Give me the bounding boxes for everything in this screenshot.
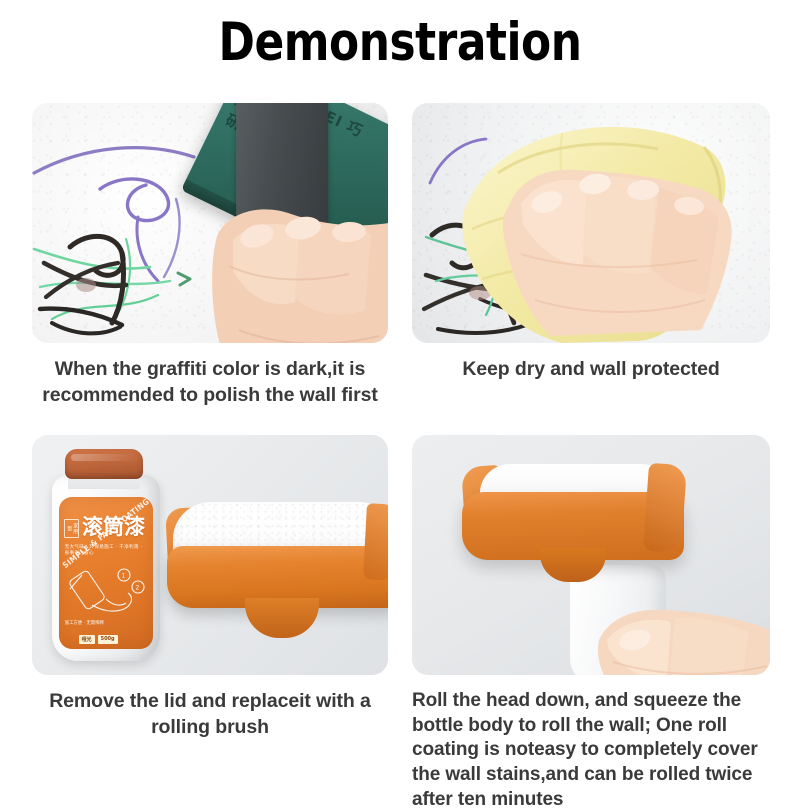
label-tag-finish: 哑光 bbox=[79, 635, 95, 644]
step-3: 家用型 滚筒漆 无大气味 · 环保易施工 · 干净利落 · 省事省力省心 bbox=[32, 435, 388, 741]
step-4-photo bbox=[412, 435, 770, 675]
svg-text:1: 1 bbox=[121, 573, 125, 580]
step-3-caption: Remove the lid and replaceit with a roll… bbox=[32, 689, 388, 741]
paint-bottle: 家用型 滚筒漆 无大气味 · 环保易施工 · 干净利落 · 省事省力省心 bbox=[52, 449, 160, 661]
hand-wiping bbox=[491, 144, 741, 343]
label-tags: 哑光 500g bbox=[79, 635, 118, 644]
label-footer: 施工方便 · 无需稀释 bbox=[65, 621, 147, 628]
hand-holding-block bbox=[199, 170, 388, 343]
hand-squeezing-bottle bbox=[591, 584, 770, 675]
roller-stem bbox=[245, 598, 319, 638]
step-4-caption: Roll the head down, and squeeze the bott… bbox=[412, 689, 770, 812]
svg-text:2: 2 bbox=[135, 585, 139, 592]
step-2-caption: Keep dry and wall protected bbox=[412, 357, 770, 383]
step-1-caption: When the graffiti color is dark,it is re… bbox=[32, 357, 388, 409]
steps-grid: QIAOCAILEI 巧 海绵砂 S 彩 研磨块 打磨 bbox=[32, 103, 770, 793]
label-tag-weight: 500g bbox=[98, 635, 118, 644]
graffiti-black bbox=[34, 223, 214, 341]
roller-neck bbox=[540, 548, 606, 582]
label-badge: 家用型 bbox=[64, 519, 80, 538]
roller-arm-right bbox=[363, 503, 388, 581]
step-3-photo: 家用型 滚筒漆 无大气味 · 环保易施工 · 干净利落 · 省事省力省心 bbox=[32, 435, 388, 675]
step-4: Roll the head down, and squeeze the bott… bbox=[412, 435, 770, 812]
page-title: Demonstration bbox=[32, 12, 768, 73]
step-2-photo bbox=[412, 103, 770, 343]
step-2: Keep dry and wall protected bbox=[412, 103, 770, 383]
step-1: QIAOCAILEI 巧 海绵砂 S 彩 研磨块 打磨 bbox=[32, 103, 388, 409]
roller-brush-head bbox=[167, 502, 388, 652]
step-1-photo: QIAOCAILEI 巧 海绵砂 S 彩 研磨块 打磨 bbox=[32, 103, 388, 343]
bottle-cap bbox=[65, 449, 143, 479]
demonstration-page: Demonstration bbox=[0, 0, 800, 800]
product-label: 家用型 滚筒漆 无大气味 · 环保易施工 · 干净利落 · 省事省力省心 bbox=[59, 497, 153, 649]
